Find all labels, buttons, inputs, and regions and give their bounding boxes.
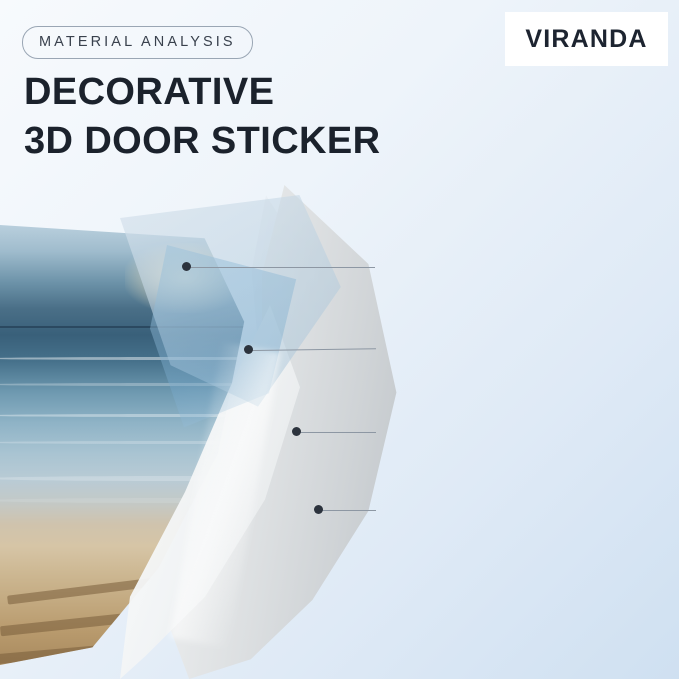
callout-leader-line [190,267,375,268]
poster-canvas: VIRANDA MATERIAL ANALYSIS DECORATIVE 3D … [0,0,679,679]
eyebrow-badge: MATERIAL ANALYSIS [22,26,253,59]
callout-leader-line [300,432,376,433]
callout-anchor-dot [314,505,323,514]
callout-anchor-dot [244,345,253,354]
headline-line-2: 3D DOOR STICKER [24,117,380,166]
brand-logo-box: VIRANDA [505,12,668,66]
callout-leader-line [322,510,376,511]
callout-anchor-dot [182,262,191,271]
headline-line-1: DECORATIVE [24,68,380,117]
callout-anchor-dot [292,427,301,436]
page-title: DECORATIVE 3D DOOR STICKER [24,68,380,167]
brand-name: VIRANDA [525,25,647,54]
